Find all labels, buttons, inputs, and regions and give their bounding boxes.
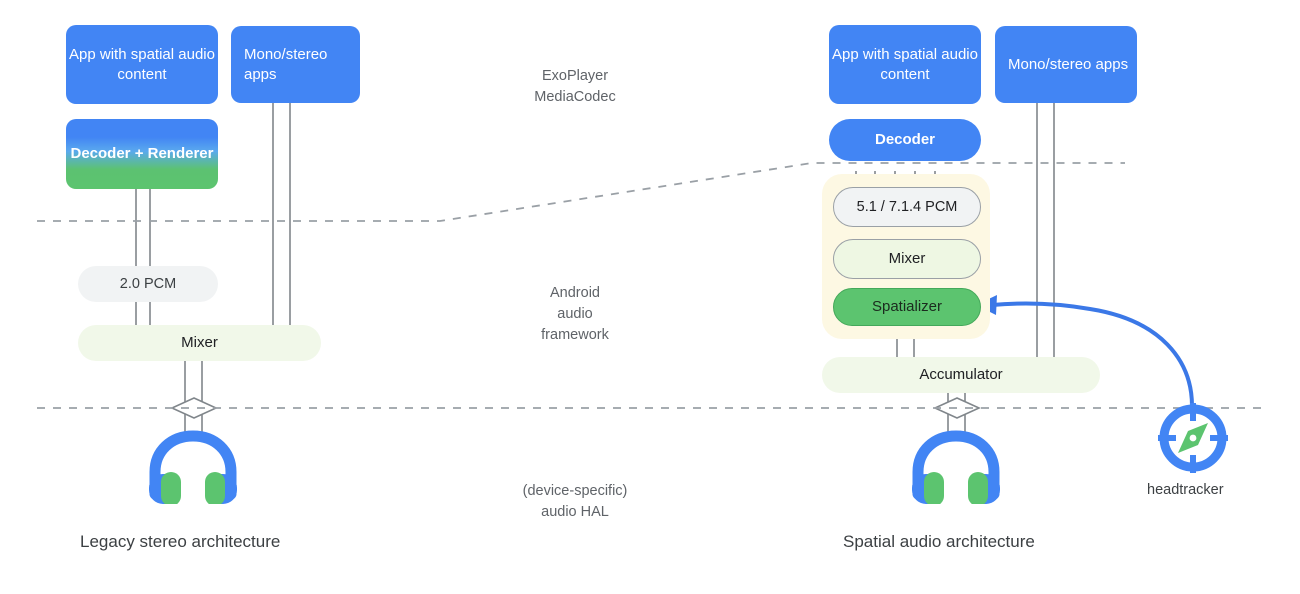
headtracker-label: headtracker xyxy=(1147,482,1224,498)
label-mediacodec: MediaCodec xyxy=(455,87,695,108)
label-framework: framework xyxy=(455,325,695,346)
right-decoder-box[interactable]: Decoder xyxy=(829,119,981,161)
right-spatializer-label: Spatializer xyxy=(872,297,942,316)
right-architecture-caption: Spatial audio architecture xyxy=(843,532,1035,552)
right-mono-stereo-box[interactable]: Mono/stereo apps xyxy=(995,26,1137,103)
right-app-spatial-box[interactable]: App with spatial audio content xyxy=(829,25,981,104)
headphones-icon xyxy=(908,428,1004,504)
diagram-canvas: App with spatial audio content Mono/ster… xyxy=(0,0,1300,594)
left-app-spatial-label: App with spatial audio content xyxy=(66,45,218,83)
label-android: Android xyxy=(455,283,695,304)
label-exoplayer-mediacodec: ExoPlayer MediaCodec xyxy=(455,66,695,108)
right-pcm-pill: 5.1 / 7.1.4 PCM xyxy=(833,187,981,227)
right-accumulator-label: Accumulator xyxy=(919,365,1002,384)
right-spatializer-pill[interactable]: Spatializer xyxy=(833,288,981,326)
left-app-spatial-box[interactable]: App with spatial audio content xyxy=(66,25,218,104)
right-mono-stereo-label: Mono/stereo apps xyxy=(1008,55,1128,74)
right-mixer-label: Mixer xyxy=(889,249,926,268)
label-audio-hal-line: audio HAL xyxy=(455,502,695,523)
right-app-spatial-label: App with spatial audio content xyxy=(829,45,981,83)
right-accumulator-pill[interactable]: Accumulator xyxy=(822,357,1100,393)
label-audio: audio xyxy=(455,304,695,325)
label-audio-hal: (device-specific) audio HAL xyxy=(455,481,695,523)
left-mixer-label: Mixer xyxy=(181,333,218,352)
left-mono-stereo-box[interactable]: Mono/stereo apps xyxy=(231,26,360,103)
left-pcm-pill: 2.0 PCM xyxy=(78,266,218,302)
label-device-specific: (device-specific) xyxy=(455,481,695,502)
left-decoder-renderer-box[interactable]: Decoder + Renderer xyxy=(66,119,218,189)
left-architecture-caption: Legacy stereo architecture xyxy=(80,532,280,552)
compass-headtracker-icon[interactable] xyxy=(1156,401,1230,475)
right-hal-junction-diamond xyxy=(935,398,979,418)
right-decoder-label: Decoder xyxy=(875,130,935,149)
left-pcm-label: 2.0 PCM xyxy=(120,275,176,294)
label-android-audio-framework: Android audio framework xyxy=(455,283,695,346)
left-mono-stereo-label: Mono/stereo apps xyxy=(244,45,360,83)
left-mixer-pill[interactable]: Mixer xyxy=(78,325,321,361)
left-decoder-renderer-label: Decoder + Renderer xyxy=(71,144,214,163)
right-mixer-pill[interactable]: Mixer xyxy=(833,239,981,279)
left-hal-junction-diamond xyxy=(172,398,216,418)
right-pcm-label: 5.1 / 7.1.4 PCM xyxy=(857,198,958,217)
label-exoplayer: ExoPlayer xyxy=(455,66,695,87)
headphones-icon xyxy=(145,428,241,504)
